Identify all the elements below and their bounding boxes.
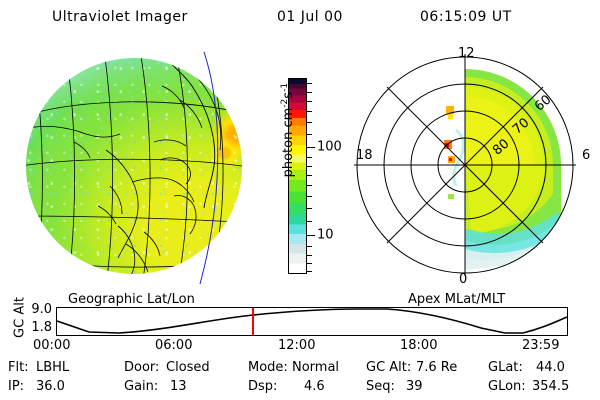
status-ip-label: IP: bbox=[8, 379, 24, 394]
status-gain-label: Gain: bbox=[124, 379, 158, 394]
colorbar-minor-tick bbox=[306, 185, 312, 186]
time-tick-1200: 12:00 bbox=[278, 338, 315, 353]
status-seq-value: 39 bbox=[406, 379, 423, 394]
status-door-value: Closed bbox=[166, 360, 210, 375]
colorbar-minor-tick bbox=[306, 196, 312, 197]
orbit-altitude-plot[interactable] bbox=[56, 307, 568, 336]
colorbar-tick-10 bbox=[306, 235, 315, 236]
status-door-label: Door: bbox=[124, 360, 159, 375]
status-block: Flt: LBHL Door: Closed Mode: Normal GC A… bbox=[0, 360, 600, 400]
status-dsp-value: 4.6 bbox=[304, 379, 325, 394]
time-tick-2359: 23:59 bbox=[522, 338, 559, 353]
status-gcalt-label: GC Alt: bbox=[366, 360, 411, 375]
colorbar-panel: photon cm-2s-1 100 10 bbox=[255, 60, 315, 290]
globe-image-panel bbox=[14, 46, 264, 294]
colorbar-unit-exp1: -2 bbox=[280, 99, 290, 108]
colorbar-minor-tick bbox=[306, 92, 312, 93]
status-ip-value: 36.0 bbox=[36, 379, 65, 394]
colorbar-unit-exp2: -1 bbox=[280, 83, 290, 92]
aurora-emission-region bbox=[444, 69, 572, 270]
polar-plot-panel: 12 18 6 0 60 70 80 bbox=[352, 44, 596, 294]
colorbar-tick-100 bbox=[306, 147, 315, 148]
colorbar-minor-tick bbox=[306, 255, 312, 256]
mlt-label-6: 6 bbox=[582, 148, 590, 163]
strip-title-geographic: Geographic Lat/Lon bbox=[68, 292, 195, 307]
orbit-altitude-strip: Geographic Lat/Lon Apex MLat/MLT GC Alt … bbox=[0, 294, 600, 344]
colorbar-unit-main: photon cm bbox=[281, 108, 296, 178]
colorbar-minor-tick bbox=[306, 166, 312, 167]
status-flt-label: Flt: bbox=[8, 360, 29, 375]
gcalt-tick-high: 9.0 bbox=[20, 302, 52, 317]
mlt-label-12: 12 bbox=[458, 46, 475, 61]
colorbar-unit-mid: s bbox=[281, 92, 296, 99]
colorbar-minor-tick bbox=[306, 111, 312, 112]
colorbar-minor-tick bbox=[306, 263, 312, 264]
time-tick-0000: 00:00 bbox=[33, 338, 70, 353]
strip-title-apex: Apex MLat/MLT bbox=[408, 292, 505, 307]
orbit-trace-svg bbox=[57, 308, 567, 335]
status-gain-value: 13 bbox=[170, 379, 187, 394]
colorbar-minor-tick bbox=[306, 271, 312, 272]
globe-overlay-svg bbox=[14, 46, 264, 294]
colorbar-minor-tick bbox=[306, 157, 312, 158]
status-glat-value: 44.0 bbox=[536, 360, 565, 375]
status-gcalt-value: 7.6 Re bbox=[416, 360, 457, 375]
mlt-label-18: 18 bbox=[356, 148, 373, 163]
gcalt-axis-title: GC Alt bbox=[13, 288, 28, 348]
altitude-trace bbox=[57, 309, 567, 333]
status-dsp-label: Dsp: bbox=[248, 379, 277, 394]
status-glon-label: GLon: bbox=[488, 379, 526, 394]
status-glon-value: 354.5 bbox=[532, 379, 569, 394]
observation-time: 06:15:09 UT bbox=[420, 9, 512, 25]
colorbar-minor-tick bbox=[306, 246, 312, 247]
status-flt-value: LBHL bbox=[36, 360, 69, 375]
gcalt-tick-low: 1.8 bbox=[20, 320, 52, 335]
colorbar-minor-tick bbox=[306, 221, 312, 222]
time-tick-0600: 06:00 bbox=[155, 338, 192, 353]
colorbar-minor-tick bbox=[306, 122, 312, 123]
status-mode-label: Mode: bbox=[248, 360, 288, 375]
status-glat-label: GLat: bbox=[488, 360, 523, 375]
colorbar-axis-label: photon cm-2s-1 bbox=[280, 55, 296, 205]
colorbar-minor-tick bbox=[306, 101, 312, 102]
polar-grid bbox=[354, 54, 576, 276]
header-bar: Ultraviolet Imager 01 Jul 00 06:15:09 UT bbox=[0, 4, 600, 30]
instrument-title: Ultraviolet Imager bbox=[52, 9, 188, 25]
colorbar-label-100: 100 bbox=[317, 140, 342, 155]
colorbar-minor-tick bbox=[306, 208, 312, 209]
polar-plot-svg bbox=[352, 44, 596, 294]
time-tick-1800: 18:00 bbox=[400, 338, 437, 353]
colorbar-label-10: 10 bbox=[317, 228, 334, 243]
status-mode-value: Normal bbox=[292, 360, 339, 375]
colorbar-minor-tick bbox=[306, 134, 312, 135]
colorbar-minor-tick bbox=[306, 83, 312, 84]
status-seq-label: Seq: bbox=[366, 379, 395, 394]
mlt-label-0: 0 bbox=[459, 272, 467, 287]
colorbar-minor-tick bbox=[306, 175, 312, 176]
observation-date: 01 Jul 00 bbox=[277, 9, 343, 25]
